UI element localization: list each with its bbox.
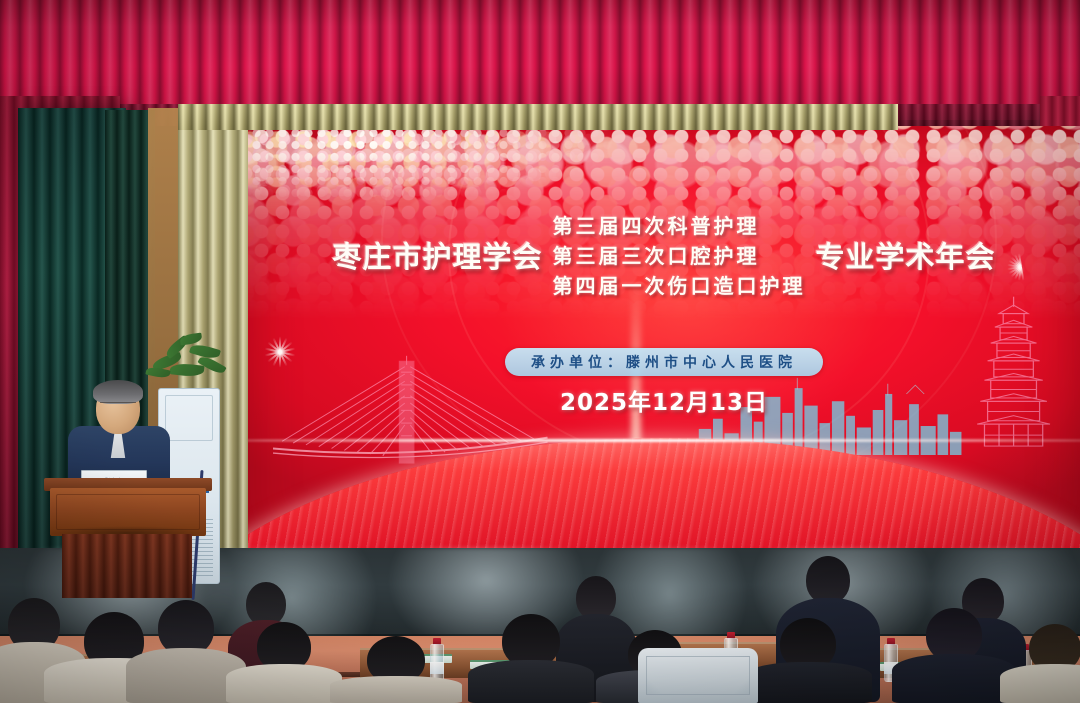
starburst-left-icon xyxy=(254,326,306,378)
sparkle-confetti-bright xyxy=(248,126,764,219)
title-middle-line-1: 第三届四次科普护理 xyxy=(553,210,806,239)
host-organization-label: 承办单位：滕州市中心人民医院 xyxy=(531,355,797,371)
screen-title-row: 枣庄市护理学会 第三届四次科普护理 第三届三次口腔护理 第四届一次伤口造口护理 … xyxy=(248,210,1080,299)
conference-hall-photo: 枣庄市护理学会 第三届四次科普护理 第三届三次口腔护理 第四届一次伤口造口护理 … xyxy=(0,0,1080,703)
title-left: 枣庄市护理学会 xyxy=(332,234,542,276)
pagoda-tower-graphic xyxy=(972,295,1055,464)
audience-member-foreground xyxy=(892,608,1016,703)
title-middle-lines: 第三届四次科普护理 第三届三次口腔护理 第四届一次伤口造口护理 xyxy=(553,210,806,299)
audience-member-foreground xyxy=(744,618,872,703)
gold-valance xyxy=(178,104,898,130)
event-date: 2025年12月13日 xyxy=(560,383,768,417)
speaker-hair xyxy=(93,380,143,404)
host-organization-pill: 承办单位：滕州市中心人民医院 xyxy=(505,348,823,376)
podium-base-skirt xyxy=(62,534,192,598)
podium-and-speaker: 张广吉 xyxy=(38,378,218,598)
screen-horizon-highlight xyxy=(248,439,1080,442)
speaker-glasses xyxy=(100,402,136,409)
audience-member-foreground xyxy=(1000,624,1080,703)
title-middle-line-2: 第三届三次口腔护理 xyxy=(553,240,806,269)
title-middle-line-3: 第四届一次伤口造口护理 xyxy=(553,270,806,299)
led-screen: 枣庄市护理学会 第三届四次科普护理 第三届三次口腔护理 第四届一次伤口造口护理 … xyxy=(248,126,1080,548)
red-pleated-curtain-top xyxy=(0,0,1080,120)
audience-member-foreground xyxy=(330,636,462,703)
audience-member-foreground xyxy=(226,622,342,703)
title-right: 专业学术年会 xyxy=(816,234,996,276)
white-chair-cover xyxy=(638,648,758,703)
audience-member-foreground xyxy=(468,614,594,703)
